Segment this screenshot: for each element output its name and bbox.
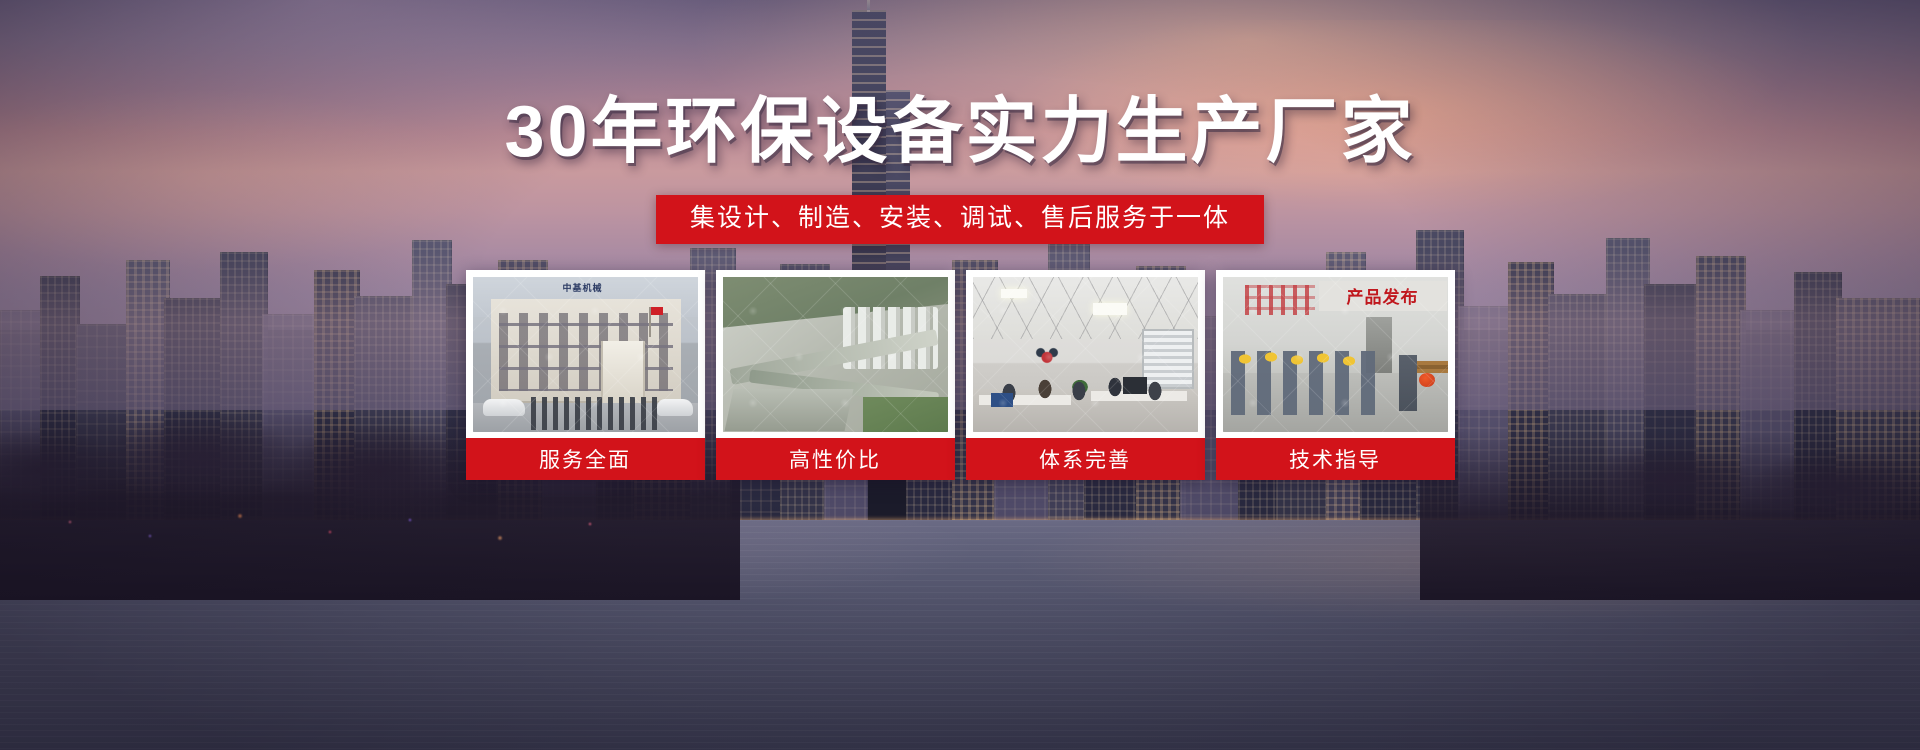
photo-office-building: 中基机械: [473, 277, 698, 432]
feature-card-list: 中基机械 服务全面: [466, 270, 1455, 480]
card-caption: 体系完善: [966, 438, 1205, 480]
card-photo: [723, 277, 948, 432]
feature-card[interactable]: 产品发布 技术指导: [1216, 270, 1455, 480]
hero-banner: 30年环保设备实力生产厂家 集设计、制造、安装、调试、售后服务于一体 中基机械: [0, 0, 1920, 750]
photo-aerial-plant: [723, 277, 948, 432]
card-photo: 产品发布: [1223, 277, 1448, 432]
card-photo: [973, 277, 1198, 432]
feature-card[interactable]: 中基机械 服务全面: [466, 270, 705, 480]
banner-content: 30年环保设备实力生产厂家 集设计、制造、安装、调试、售后服务于一体 中基机械: [0, 0, 1920, 750]
feature-card[interactable]: 体系完善: [966, 270, 1205, 480]
card-caption: 技术指导: [1216, 438, 1455, 480]
banner-subtitle-bar: 集设计、制造、安装、调试、售后服务于一体: [656, 195, 1264, 244]
photo-office-interior: [973, 277, 1198, 432]
photo-workshop-training: 产品发布: [1223, 277, 1448, 432]
building-sign-text: 中基机械: [539, 282, 627, 293]
card-caption: 服务全面: [466, 438, 705, 480]
feature-card[interactable]: 高性价比: [716, 270, 955, 480]
card-caption: 高性价比: [716, 438, 955, 480]
card-photo: 中基机械: [473, 277, 698, 432]
workshop-banner-text: 产品发布: [1319, 281, 1447, 311]
banner-headline: 30年环保设备实力生产厂家: [504, 96, 1415, 168]
